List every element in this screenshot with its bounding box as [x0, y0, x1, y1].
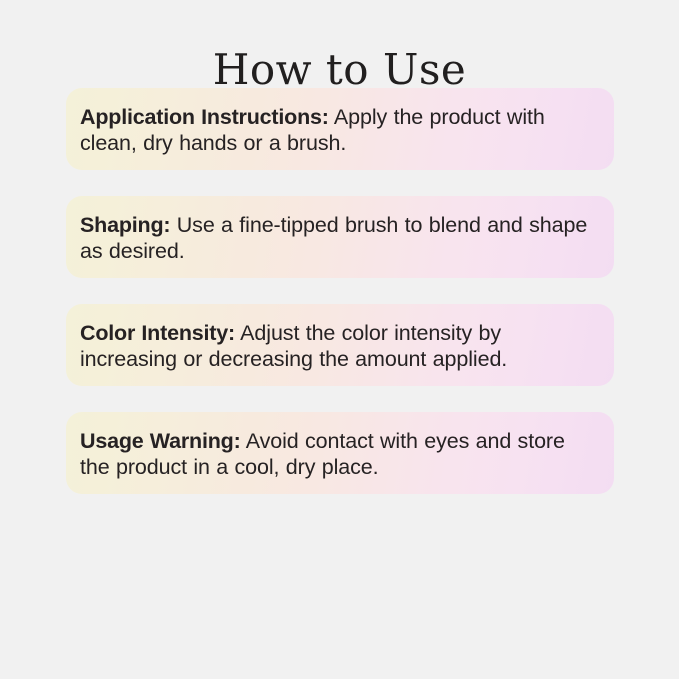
instruction-card-label: Application Instructions:	[80, 105, 329, 129]
instruction-card-list: Application Instructions: Apply the prod…	[66, 88, 614, 494]
instruction-card-label: Color Intensity:	[80, 321, 235, 345]
instruction-card: Color Intensity: Adjust the color intens…	[66, 304, 614, 386]
instruction-card: Shaping: Use a fine-tipped brush to blen…	[66, 196, 614, 278]
instruction-card-text: Color Intensity: Adjust the color intens…	[80, 320, 600, 372]
instruction-card-label: Shaping:	[80, 213, 170, 237]
how-to-use-page: How to Use Application Instructions: App…	[0, 0, 679, 679]
instruction-card: Usage Warning: Avoid contact with eyes a…	[66, 412, 614, 494]
instruction-card-text: Usage Warning: Avoid contact with eyes a…	[80, 428, 600, 480]
instruction-card: Application Instructions: Apply the prod…	[66, 88, 614, 170]
instruction-card-text: Shaping: Use a fine-tipped brush to blen…	[80, 212, 600, 264]
instruction-card-label: Usage Warning:	[80, 429, 241, 453]
instruction-card-text: Application Instructions: Apply the prod…	[80, 104, 600, 156]
